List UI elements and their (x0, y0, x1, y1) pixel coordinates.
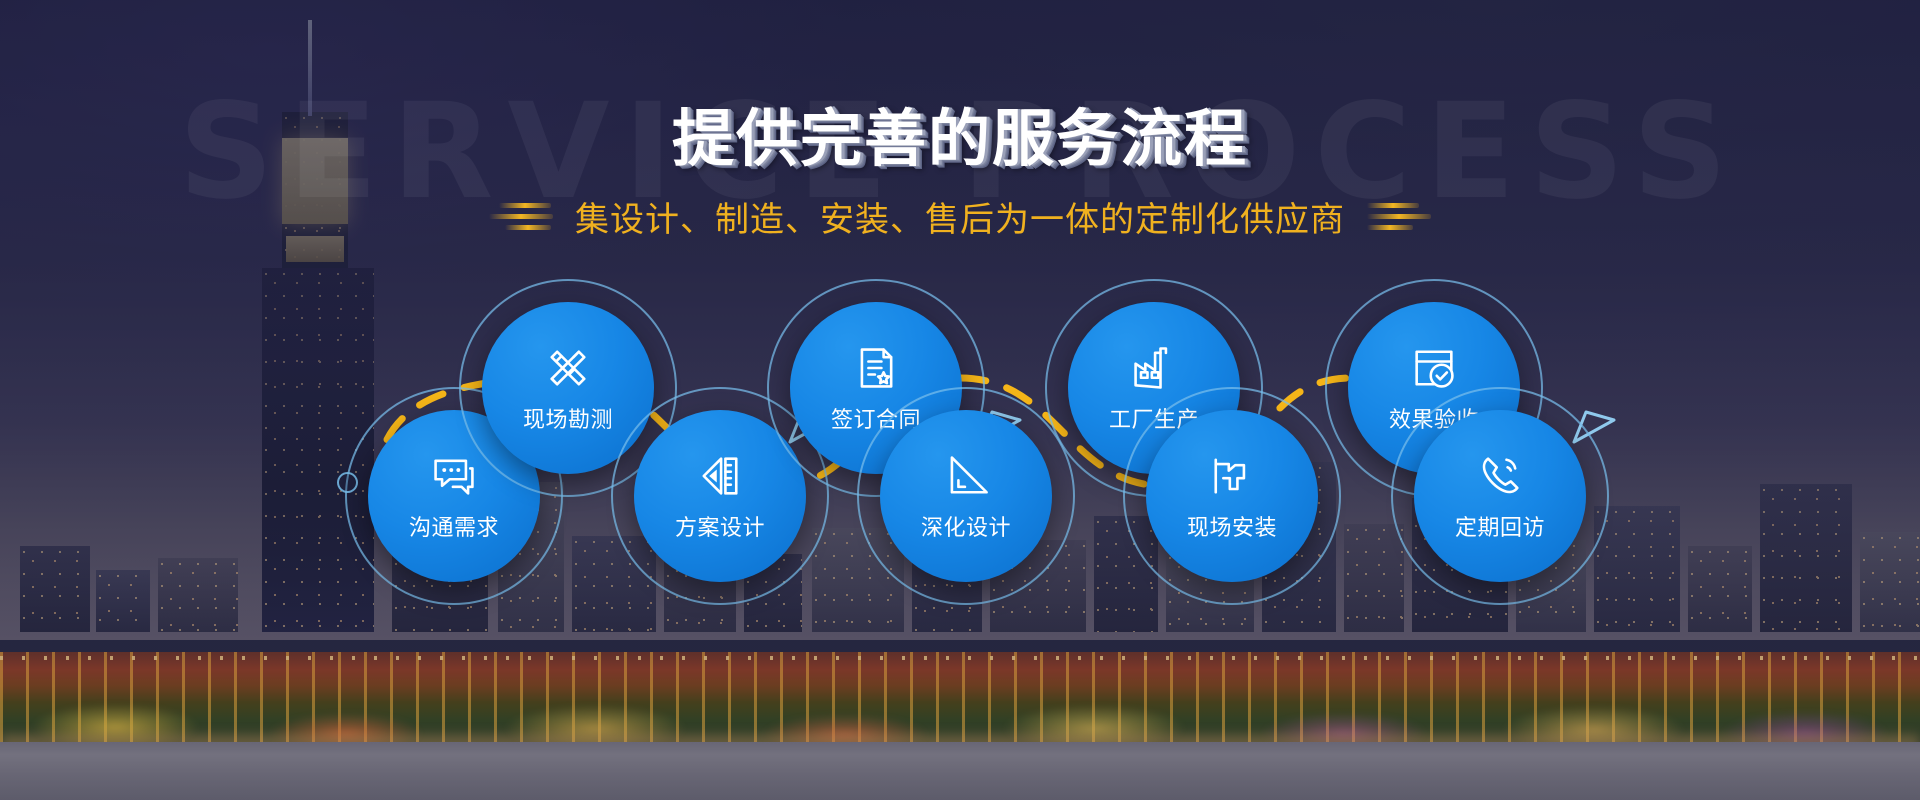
subtitle-row: 集设计、制造、安装、售后为一体的定制化供应商 (0, 192, 1920, 241)
process-step-7[interactable]: 现场安装 (1146, 410, 1318, 582)
step-label: 现场安装 (1187, 510, 1277, 542)
factory-icon (1128, 342, 1180, 394)
gold-dash-right-icon (1367, 203, 1431, 230)
page-subtitle: 集设计、制造、安装、售后为一体的定制化供应商 (575, 192, 1345, 241)
set-square-icon (940, 450, 992, 502)
process-step-5[interactable]: 深化设计 (880, 410, 1052, 582)
step-label: 深化设计 (921, 510, 1011, 542)
chat-bubble-icon (428, 450, 480, 502)
page-title: 提供完善的服务流程 (0, 108, 1920, 170)
step-label: 方案设计 (675, 510, 765, 542)
checked-board-icon (1408, 342, 1460, 394)
step-disc[interactable]: 深化设计 (880, 410, 1052, 582)
process-flow: 沟通需求 现场勘测 (0, 300, 1920, 640)
phone-call-icon (1474, 450, 1526, 502)
flow-start-dot-icon (337, 472, 358, 493)
ruler-scale-icon (694, 450, 746, 502)
process-step-9[interactable]: 定期回访 (1414, 410, 1586, 582)
ruler-pencil-icon (542, 342, 594, 394)
step-label: 沟通需求 (409, 510, 499, 542)
contract-doc-icon (850, 342, 902, 394)
step-disc[interactable]: 现场安装 (1146, 410, 1318, 582)
step-disc[interactable]: 定期回访 (1414, 410, 1586, 582)
step-label: 定期回访 (1455, 510, 1545, 542)
service-process-banner: SERVICE PROCESS 提供完善的服务流程 集设计、制造、安装、售后为一… (0, 0, 1920, 800)
gold-dash-left-icon (489, 203, 553, 230)
step-label: 现场勘测 (523, 402, 613, 434)
power-drill-icon (1206, 450, 1258, 502)
